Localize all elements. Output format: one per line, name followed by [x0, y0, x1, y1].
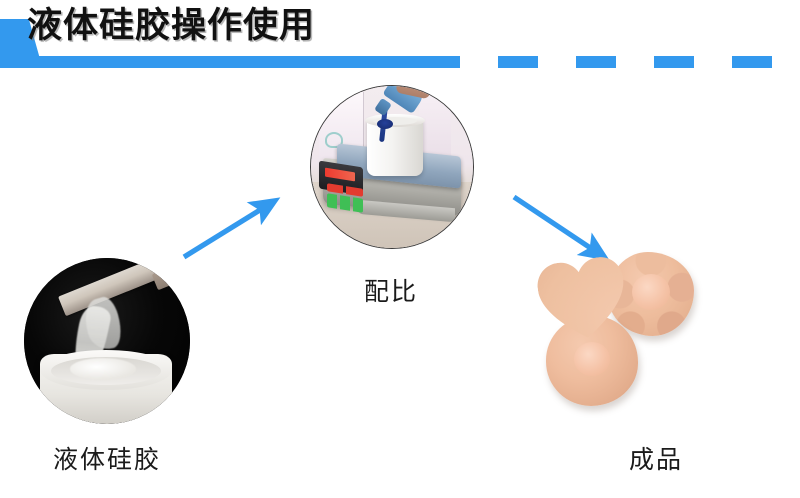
image-finished-product [546, 250, 766, 430]
label-liquid-silicone: 液体硅胶 [24, 440, 190, 476]
page-title: 液体硅胶操作使用 [27, 3, 315, 49]
pigment-pool [377, 119, 393, 129]
product-center-nub [632, 274, 670, 310]
arrow-liquid-to-mixing-icon [170, 185, 290, 270]
slide-canvas: 液体硅胶操作使用 液体硅胶 [0, 0, 800, 498]
image-liquid-silicone [24, 258, 190, 424]
header-dashes [460, 56, 800, 68]
container-pool [70, 358, 136, 380]
slide-header: 液体硅胶操作使用 [0, 0, 800, 70]
product-center-nub [574, 342, 610, 376]
label-finished-product: 成品 [546, 440, 766, 476]
label-proportioning: 配比 [310, 272, 472, 308]
image-proportioning [310, 85, 474, 249]
